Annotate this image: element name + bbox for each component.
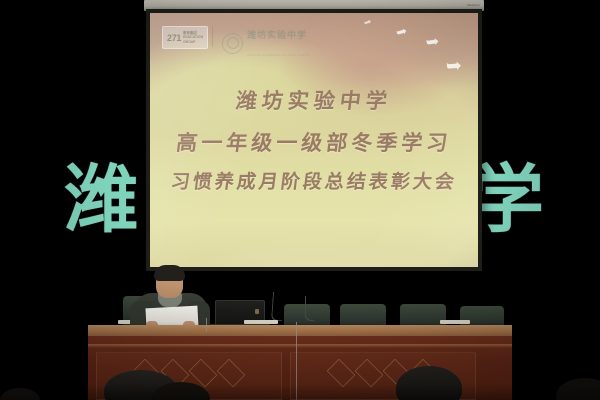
assembly-hall-photo: 潍 学 Medium ➥ ➥ ➥ ➥ 271 教育集团 EDUCATION GR…	[0, 0, 600, 400]
microphone-base	[244, 320, 278, 324]
microphone-icon	[271, 292, 284, 322]
microphone-base	[440, 320, 470, 324]
microphone-icon	[305, 296, 314, 321]
projection-screen-frame: ➥ ➥ ➥ ➥ 271 教育集团 EDUCATION GROUP 潍坊实验中学 …	[146, 9, 482, 271]
foreground-shadow	[0, 384, 600, 400]
speaker-hair	[154, 265, 185, 281]
wall-character-left: 潍	[64, 163, 138, 237]
cable	[206, 318, 207, 332]
screen-glare	[150, 13, 478, 267]
projector-brand-label: Medium	[468, 3, 480, 7]
projection-screen-canvas: ➥ ➥ ➥ ➥ 271 教育集团 EDUCATION GROUP 潍坊实验中学 …	[150, 13, 478, 267]
